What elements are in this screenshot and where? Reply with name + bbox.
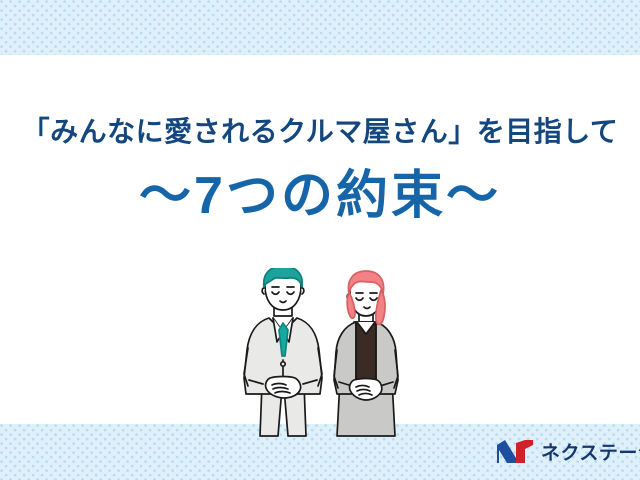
nexstage-logo: ネクステージ — [496, 437, 640, 465]
headline-line-2: 〜7つの約束〜 — [0, 166, 640, 226]
headline-block: 「みんなに愛されるクルマ屋さん」を目指して 〜7つの約束〜 — [0, 112, 640, 226]
headline-line-1: 「みんなに愛されるクルマ屋さん」を目指して — [0, 112, 640, 152]
female-staff-figure — [334, 271, 398, 436]
promise-banner: 「みんなに愛されるクルマ屋さん」を目指して 〜7つの約束〜 — [0, 0, 640, 480]
male-staff-figure — [244, 268, 322, 436]
nexstage-logo-text: ネクステージ — [541, 438, 640, 465]
nexstage-n-mark — [496, 439, 534, 464]
top-dotted-band — [0, 0, 640, 55]
bowing-staff-illustration — [236, 268, 416, 440]
